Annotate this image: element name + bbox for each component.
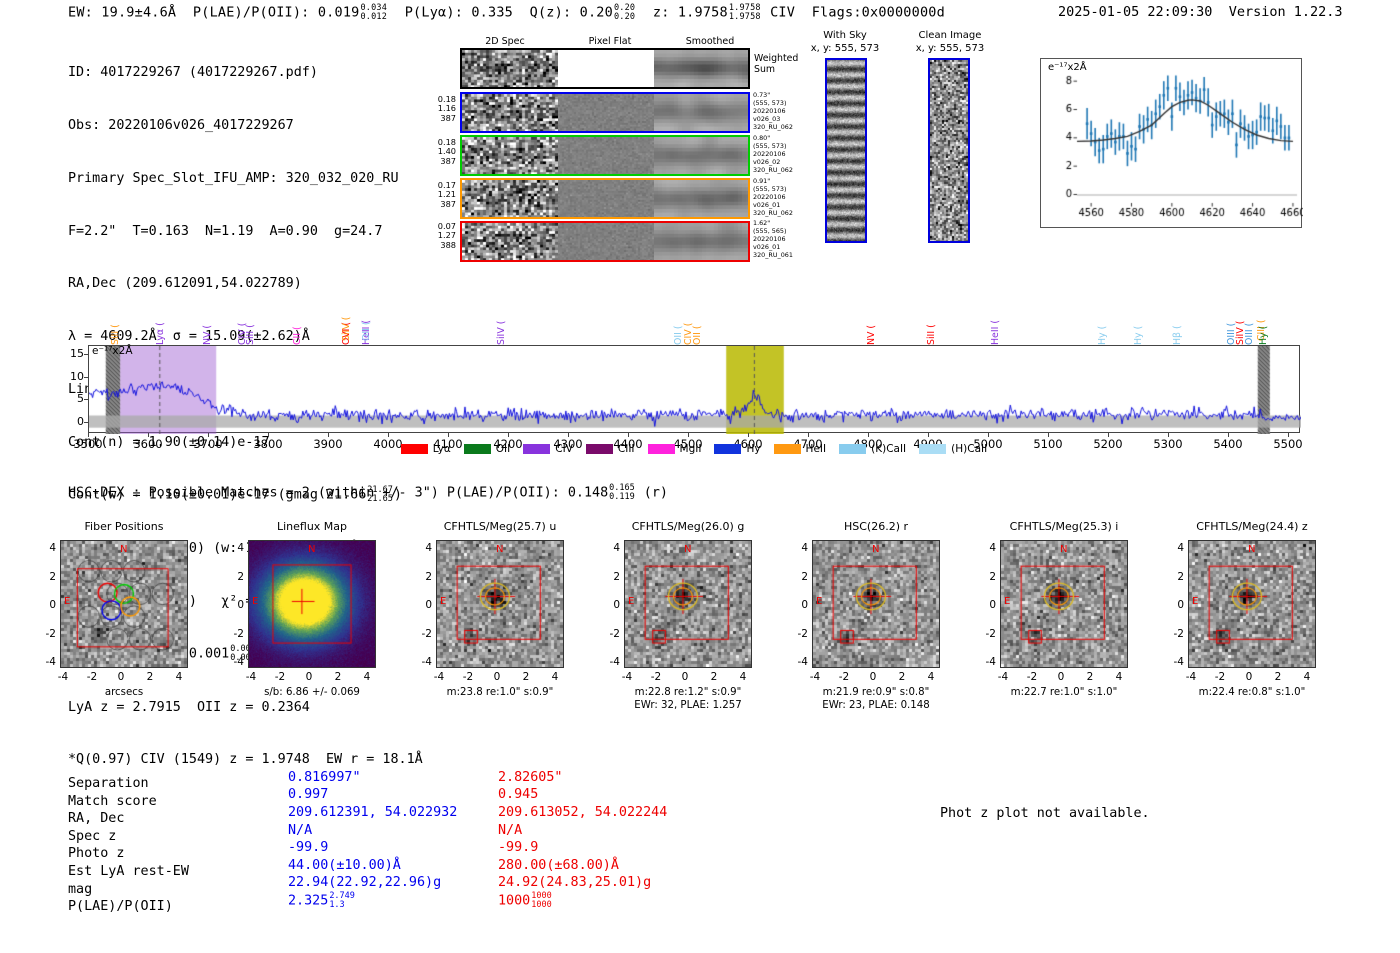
- legend-label: (H)CaII: [951, 443, 987, 455]
- spectrum-line-label: NV (: [202, 315, 213, 345]
- spec2d-row2-right-label: 0.80" (555, 573) 20220106 v026_02 320_RU…: [753, 134, 793, 174]
- spectrum-xtick-mark: [1228, 433, 1229, 437]
- cutout-image[interactable]: [1188, 540, 1316, 668]
- spectrum-xtick-mark: [688, 433, 689, 437]
- spectrum-line-label: Lyα (: [155, 315, 166, 345]
- cutout-xtick: -2: [641, 671, 671, 683]
- compass-north-label: N: [872, 544, 879, 555]
- lo: 0.119: [609, 493, 635, 502]
- cutout-xtick: -2: [1017, 671, 1047, 683]
- legend-label: Hy: [746, 443, 760, 455]
- legend-item: Hy: [714, 443, 760, 455]
- cutout-caption-secondary: EWr: 23, PLAE: 0.148: [812, 699, 940, 712]
- header-z-range: 1.97581.9758: [729, 4, 761, 21]
- match-row-label: Separation: [68, 775, 149, 793]
- spectrum-xtick-mark: [448, 433, 449, 437]
- spectrum-line-label: SiII (: [110, 315, 121, 345]
- spec2d-weighted-sum-label: Weighted Sum: [754, 53, 798, 75]
- cutout-ytick: 0: [978, 599, 996, 611]
- spectrum-line-label: OII (: [361, 277, 372, 341]
- legend-label: (K)CaII: [871, 443, 906, 455]
- header-z: z: 1.9758: [653, 5, 728, 21]
- info-line-seeing: F=2.2" T=0.163 N=1.19 A=0.90 g=24.7: [68, 223, 423, 241]
- cutout-xtick: 0: [1234, 671, 1264, 683]
- cutout-xtick: 0: [106, 671, 136, 683]
- spectrum-ytick: 15: [56, 347, 84, 360]
- cutout-panel-6[interactable]: CFHTLS/Meg(25.3) i-4-2024420-2-4m:22.7 r…: [1000, 540, 1128, 668]
- cutout-image[interactable]: [1000, 540, 1128, 668]
- cutout-xtick: 4: [352, 671, 382, 683]
- match-value: 280.00(±68.00)Å: [498, 857, 619, 875]
- cutout-caption: s/b: 6.86 +/- 0.069: [248, 686, 376, 699]
- match-value: 24.92(24.83,25.01)g: [498, 874, 651, 892]
- spec2d-row1-right-label: 0.73" (555, 573) 20220106 v026_03 320_RU…: [753, 91, 793, 131]
- spec2d-col-title-smoothed: Smoothed: [655, 36, 765, 47]
- cutout-panel-4[interactable]: CFHTLS/Meg(26.0) g-4-2024420-2-4m:22.8 r…: [624, 540, 752, 668]
- spectrum-ytick: 0: [56, 415, 84, 428]
- legend-item: OII: [464, 443, 510, 455]
- spectrum-ytick-mark: [84, 354, 88, 355]
- cutout-xtick: -2: [453, 671, 483, 683]
- legend-label: Lyα: [433, 443, 451, 455]
- coords: x, y: 555, 573: [800, 43, 890, 56]
- clean-image-title: Clean Image x, y: 555, 573: [900, 30, 1000, 55]
- cutout-xtick: 4: [728, 671, 758, 683]
- spectrum-xtick-mark: [1108, 433, 1109, 437]
- match-value: 0.816997": [288, 769, 361, 787]
- spectrum-xtick-mark: [868, 433, 869, 437]
- header-plae-poii-range: 0.0340.012: [360, 4, 387, 21]
- with-sky-title: With Sky x, y: 555, 573: [800, 30, 890, 55]
- spectrum-line-label: NV (: [866, 315, 877, 345]
- legend-swatch: [464, 444, 491, 454]
- spectrum-xtick-mark: [988, 433, 989, 437]
- spectrum-line-label: Hy (: [1097, 315, 1108, 345]
- hscdex-range: 0.1650.119: [609, 484, 635, 501]
- match-row-label: P(LAE)/P(OII): [68, 898, 173, 916]
- cutout-ytick: 2: [226, 571, 244, 583]
- spectrum-xtick-mark: [808, 433, 809, 437]
- coords: x, y: 555, 573: [900, 43, 1000, 56]
- match-value: -99.9: [498, 839, 538, 857]
- spec2d-row4-right-label: 1.62" (555, 565) 20220106 v026_01 320_RU…: [753, 219, 793, 259]
- cutout-caption: m:21.9 re:0.9" s:0.8": [812, 686, 940, 699]
- cutout-title: Lineflux Map: [248, 520, 376, 533]
- cutout-ytick: 0: [602, 599, 620, 611]
- legend-swatch: [714, 444, 741, 454]
- cutout-xtick: -2: [829, 671, 859, 683]
- spectrum-xtick-mark: [568, 433, 569, 437]
- spectrum-ytick-mark: [84, 422, 88, 423]
- legend-label: CIII: [618, 443, 635, 455]
- cutout-ytick: 4: [38, 542, 56, 554]
- cutout-xtick: -2: [1205, 671, 1235, 683]
- cutout-ytick: 4: [978, 542, 996, 554]
- cutout-xtick: 2: [135, 671, 165, 683]
- info-line-primary-spec: Primary Spec_Slot_IFU_AMP: 320_032_020_R…: [68, 170, 423, 188]
- compass-east-label: E: [628, 596, 634, 607]
- pixel-flat-blank: [558, 50, 654, 87]
- spectrum-xtick-mark: [508, 433, 509, 437]
- legend-swatch: [648, 444, 675, 454]
- spectrum-line-label: SiII (: [245, 315, 256, 345]
- cutout-ytick: -2: [226, 628, 244, 640]
- full-spectrum-legend: LyαOIICIVCIIIMgIIHyHeII(K)CaII(H)CaII: [88, 443, 1300, 455]
- spec2d-col-title-pixelflat: Pixel Flat: [555, 36, 665, 47]
- compass-east-label: E: [440, 596, 446, 607]
- cutout-ytick: 0: [414, 599, 432, 611]
- plae-value: 2.325: [288, 894, 328, 909]
- cutout-ytick: 4: [226, 542, 244, 554]
- cutout-ytick: 0: [226, 599, 244, 611]
- cutout-caption: m:23.8 re:1.0" s:0.9": [436, 686, 564, 699]
- cutout-caption: m:22.7 re:1.0" s:1.0": [1000, 686, 1128, 699]
- cutout-ytick: -2: [790, 628, 808, 640]
- cutout-ytick: 4: [414, 542, 432, 554]
- match-value: 0.997: [288, 786, 328, 804]
- cutout-xtick: 2: [1075, 671, 1105, 683]
- spec2d-row3-left-label: 0.17 1.21 387: [426, 181, 456, 209]
- spec2d-row2-left-label: 0.18 1.40 387: [426, 138, 456, 166]
- cutout-xtick: 2: [323, 671, 353, 683]
- cutout-ytick: 2: [414, 571, 432, 583]
- match-value: N/A: [288, 822, 312, 840]
- cutout-ytick: -4: [414, 656, 432, 668]
- cutout-title: CFHTLS/Meg(24.4) z: [1188, 520, 1316, 533]
- cutout-xtick: 2: [699, 671, 729, 683]
- legend-label: MgII: [680, 443, 702, 455]
- lo: 1000: [531, 901, 551, 910]
- lo: 0.012: [360, 13, 387, 22]
- header-qz: Q(z): 0.20: [530, 5, 613, 21]
- spectrum-ytick-mark: [84, 377, 88, 378]
- legend-swatch: [774, 444, 801, 454]
- spec2d-row-fiber-2: [460, 135, 750, 176]
- spec2d-row3-right-label: 0.91" (555, 573) 20220106 v026_01 320_RU…: [753, 177, 793, 217]
- legend-label: HeII: [806, 443, 827, 455]
- cutout-xtick: 0: [482, 671, 512, 683]
- compass-east-label: E: [816, 596, 822, 607]
- spectrum-ytick: 5: [56, 392, 84, 405]
- cutout-xtick: -2: [265, 671, 295, 683]
- line-profile-axes: [1040, 58, 1302, 228]
- cutout-xtick: 2: [1263, 671, 1293, 683]
- spec2d-row-fiber-1: [460, 92, 750, 133]
- legend-item: (H)CaII: [919, 443, 987, 455]
- header-flags: Flags:0x0000000d: [812, 5, 945, 21]
- legend-item: (K)CaII: [839, 443, 906, 455]
- cutout-caption: m:22.4 re:0.8" s:1.0": [1188, 686, 1316, 699]
- spectrum-line-label: Hy (: [1133, 315, 1144, 345]
- cutout-xtick: 4: [540, 671, 570, 683]
- photz-note: Phot z plot not available.: [940, 806, 1150, 821]
- info-line-obs: Obs: 20220106v026_4017229267: [68, 117, 423, 135]
- spectrum-xtick-mark: [88, 433, 89, 437]
- header-summary-line: EW: 19.9±4.6Å P(LAE)/P(OII): 0.0190.0340…: [68, 4, 945, 21]
- info-line-qline: *Q(0.97) CIV (1549) z = 1.9748 EW r = 18…: [68, 751, 423, 769]
- clean-image: [928, 58, 970, 243]
- match-value: 0.945: [498, 786, 538, 804]
- cutout-xtick: 4: [1104, 671, 1134, 683]
- spec2d-row4-left-label: 0.07 1.27 388: [426, 222, 456, 250]
- cutout-xtick: -4: [988, 671, 1018, 683]
- compass-east-label: E: [1192, 596, 1198, 607]
- header-plae-poii: P(LAE)/P(OII): 0.019: [193, 5, 360, 21]
- cutout-xtick: 0: [858, 671, 888, 683]
- with-sky-image: [825, 58, 867, 243]
- legend-label: OII: [496, 443, 510, 455]
- spectrum-xtick-mark: [1048, 433, 1049, 437]
- cutout-image[interactable]: [60, 540, 188, 668]
- cutout-image[interactable]: [436, 540, 564, 668]
- lo: 1.3: [329, 901, 355, 910]
- cutout-xtick: 4: [1292, 671, 1322, 683]
- spectrum-xtick-mark: [148, 433, 149, 437]
- cutout-title: HSC(26.2) r: [812, 520, 940, 533]
- cutout-ytick: -2: [978, 628, 996, 640]
- cutout-xtick: -4: [800, 671, 830, 683]
- spec2d-row-fiber-3: [460, 178, 750, 219]
- cutout-ytick: -4: [226, 656, 244, 668]
- legend-swatch: [586, 444, 613, 454]
- spectrum-xtick-mark: [1168, 433, 1169, 437]
- full-spectrum-units: e⁻¹⁷x2Å: [92, 345, 133, 357]
- legend-label: CIV: [555, 443, 573, 455]
- cutout-panel-5[interactable]: HSC(26.2) r-4-2024420-2-4m:21.9 re:0.9" …: [812, 540, 940, 668]
- cutout-ytick: 4: [602, 542, 620, 554]
- spectrum-line-label: Hy (: [1258, 315, 1269, 345]
- cutout-ytick: 4: [790, 542, 808, 554]
- cutout-xtick: -4: [236, 671, 266, 683]
- cutout-xtick: 2: [887, 671, 917, 683]
- cutout-caption-secondary: EWr: 32, PLAE: 1.257: [624, 699, 752, 712]
- cutout-ytick: -4: [978, 656, 996, 668]
- compass-north-label: N: [496, 544, 503, 555]
- cutout-ytick: -4: [790, 656, 808, 668]
- compass-east-label: E: [64, 596, 70, 607]
- cutout-xtick: 0: [1046, 671, 1076, 683]
- info-line-id: ID: 4017229267 (4017229267.pdf): [68, 64, 423, 82]
- spectrum-line-label: HeII (: [990, 315, 1001, 345]
- cutout-xtick: 0: [294, 671, 324, 683]
- header-line-id: CIV: [770, 5, 795, 21]
- cutout-xtick: -4: [424, 671, 454, 683]
- cutout-ytick: -2: [414, 628, 432, 640]
- hscdex-pre: HSC-DEX : Possible Matches = 2 (within +…: [68, 486, 608, 501]
- cutout-image[interactable]: [812, 540, 940, 668]
- cutout-xlabel: arcsecs: [60, 686, 188, 699]
- cutout-panel-3[interactable]: CFHTLS/Meg(25.7) u-4-2024420-2-4m:23.8 r…: [436, 540, 564, 668]
- plae-range: 10001000: [531, 892, 551, 909]
- legend-swatch: [919, 444, 946, 454]
- cutout-ytick: -2: [1166, 628, 1184, 640]
- header-ew: EW: 19.9±4.6Å: [68, 5, 176, 21]
- cutout-ytick: 2: [978, 571, 996, 583]
- cutout-ytick: 4: [1166, 542, 1184, 554]
- match-row-label: Photo z: [68, 845, 124, 863]
- cutout-ytick: -2: [38, 628, 56, 640]
- match-value: -99.9: [288, 839, 328, 857]
- plae-value: 1000: [498, 894, 530, 909]
- compass-north-label: N: [120, 544, 127, 555]
- full-spectrum-axes: [88, 345, 1300, 433]
- label: With Sky: [800, 30, 890, 43]
- spectrum-line-label: SiIV (: [341, 277, 352, 341]
- compass-east-label: E: [1004, 596, 1010, 607]
- cutout-title: Fiber Positions: [60, 520, 188, 533]
- cutout-xtick: -4: [48, 671, 78, 683]
- cutout-xtick: 4: [164, 671, 194, 683]
- spectrum-xtick-mark: [208, 433, 209, 437]
- plae-range: 2.7491.3: [329, 892, 355, 909]
- compass-east-label: E: [252, 596, 258, 607]
- cutout-ytick: 0: [38, 599, 56, 611]
- cutout-ytick: -4: [1166, 656, 1184, 668]
- label: Clean Image: [900, 30, 1000, 43]
- match-value: 209.613052, 54.022244: [498, 804, 667, 822]
- match-row-label: mag: [68, 881, 92, 899]
- line-profile-plot: e⁻¹⁷x2Å: [1040, 58, 1302, 228]
- legend-swatch: [401, 444, 428, 454]
- lo: 0.20: [614, 13, 635, 22]
- cutout-xtick: 4: [916, 671, 946, 683]
- cutout-ytick: 0: [790, 599, 808, 611]
- cutout-ytick: -4: [602, 656, 620, 668]
- spectrum-xtick-mark: [628, 433, 629, 437]
- compass-north-label: N: [308, 544, 315, 555]
- match-value: 2.3252.7491.3: [288, 892, 356, 910]
- cutout-panel-2[interactable]: Lineflux Map-4-2024420-2-4s/b: 6.86 +/- …: [248, 540, 376, 668]
- spectrum-ytick: 10: [56, 370, 84, 383]
- legend-item: Lyα: [401, 443, 451, 455]
- match-row-label: Spec z: [68, 828, 116, 846]
- spectrum-xtick-mark: [928, 433, 929, 437]
- match-value: 209.612391, 54.022932: [288, 804, 457, 822]
- line-profile-units: e⁻¹⁷x2Å: [1048, 62, 1087, 73]
- spec2d-row-weighted-sum: [460, 48, 750, 89]
- cutout-title: CFHTLS/Meg(25.7) u: [436, 520, 564, 533]
- lo: 1.9758: [729, 13, 761, 22]
- info-line-redshifts: LyA z = 2.7915 OII z = 0.2364: [68, 699, 423, 717]
- compass-north-label: N: [1060, 544, 1067, 555]
- compass-north-label: N: [1248, 544, 1255, 555]
- cutout-image[interactable]: [624, 540, 752, 668]
- cutout-xtick: -4: [1176, 671, 1206, 683]
- cutout-title: CFHTLS/Meg(25.3) i: [1000, 520, 1128, 533]
- cutout-ytick: 2: [38, 571, 56, 583]
- hsc-dex-matches-line: HSC-DEX : Possible Matches = 2 (within +…: [68, 484, 668, 501]
- cutout-xtick: 2: [511, 671, 541, 683]
- spectrum-xtick-mark: [268, 433, 269, 437]
- full-spectrum-plot: e⁻¹⁷x2Å: [88, 345, 1300, 433]
- spectrum-xtick-mark: [748, 433, 749, 437]
- match-row-label: Match score: [68, 793, 157, 811]
- match-value: N/A: [498, 822, 522, 840]
- cutout-ytick: 0: [1166, 599, 1184, 611]
- legend-item: CIII: [586, 443, 635, 455]
- spectrum-xtick-mark: [328, 433, 329, 437]
- header-plya: P(Lyα): 0.335: [405, 5, 513, 21]
- spectrum-line-label: OIII (: [1244, 315, 1255, 345]
- spectrum-line-label: SiII (: [926, 315, 937, 345]
- spec2d-row1-left-label: 0.18 1.16 387: [426, 95, 456, 123]
- cutout-xtick: -4: [612, 671, 642, 683]
- cutout-xtick: -2: [77, 671, 107, 683]
- spec2d-row-fiber-4: [460, 221, 750, 262]
- cutout-ytick: -4: [38, 656, 56, 668]
- cutout-ytick: 2: [602, 571, 620, 583]
- match-row-label: RA, Dec: [68, 810, 124, 828]
- match-row-label: Est LyA rest-EW: [68, 863, 189, 881]
- timestamp: 2025-01-05 22:09:30: [1058, 4, 1212, 20]
- cutout-ytick: 2: [790, 571, 808, 583]
- legend-swatch: [523, 444, 550, 454]
- hscdex-post: (r): [636, 486, 668, 501]
- cutout-title: CFHTLS/Meg(26.0) g: [624, 520, 752, 533]
- spectrum-line-label: CII (: [292, 315, 303, 345]
- legend-swatch: [839, 444, 866, 454]
- spec2d-col-title-2dspec: 2D Spec: [450, 36, 560, 47]
- legend-item: MgII: [648, 443, 702, 455]
- cutout-image[interactable]: [248, 540, 376, 668]
- spectrum-xtick-mark: [1288, 433, 1289, 437]
- cutout-ytick: -2: [602, 628, 620, 640]
- compass-north-label: N: [684, 544, 691, 555]
- legend-item: HeII: [774, 443, 827, 455]
- cutout-panel-1[interactable]: Fiber Positions-4-2024420-2-4arcsecsNE: [60, 540, 188, 668]
- version: Version 1.22.3: [1229, 4, 1343, 20]
- spectrum-line-label: Hβ (: [1172, 315, 1183, 345]
- cutout-ytick: 2: [1166, 571, 1184, 583]
- match-value: 2.82605": [498, 769, 563, 787]
- legend-item: CIV: [523, 443, 573, 455]
- spectrum-line-label: SiIV (: [496, 315, 507, 345]
- cutout-panel-7[interactable]: CFHTLS/Meg(24.4) z-4-2024420-2-4m:22.4 r…: [1188, 540, 1316, 668]
- header-qz-range: 0.200.20: [614, 4, 635, 21]
- spectrum-line-label: OII (: [692, 315, 703, 345]
- cutout-caption: m:22.8 re:1.2" s:0.9": [624, 686, 752, 699]
- header-timestamp-version: 2025-01-05 22:09:30 Version 1.22.3: [1058, 4, 1343, 20]
- match-value: 22.94(22.92,22.96)g: [288, 874, 441, 892]
- spectrum-xtick-mark: [388, 433, 389, 437]
- cutout-xtick: 0: [670, 671, 700, 683]
- match-value: 100010001000: [498, 892, 553, 910]
- spectrum-ytick-mark: [84, 399, 88, 400]
- match-value: 44.00(±10.00)Å: [288, 857, 401, 875]
